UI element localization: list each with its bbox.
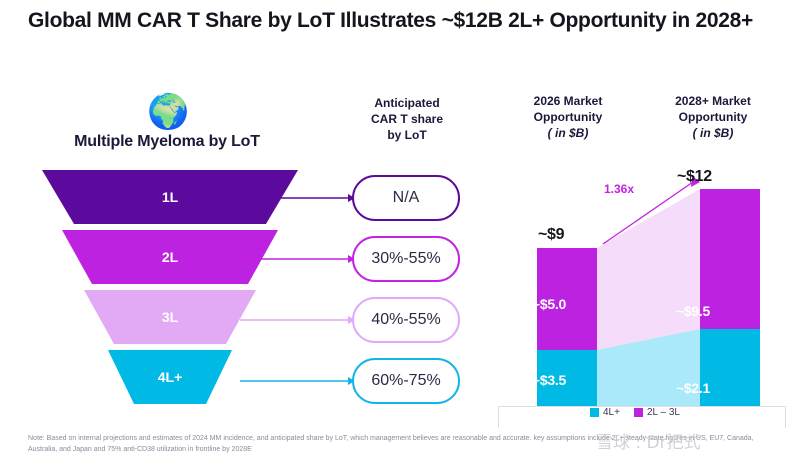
chart-header-2028-line3: ( in $B): [648, 126, 778, 142]
bar-2028-4lplus-label: ~$2.1: [676, 380, 710, 396]
legend-swatch-4lplus: [590, 408, 599, 417]
share-pill-3l-value: 40%-55%: [371, 311, 440, 329]
legend-label-4lplus: 4L+: [603, 407, 620, 418]
chart-header-2026-line3: ( in $B): [508, 126, 628, 142]
globe-icon: 🌍: [147, 92, 187, 132]
chart-header-2028-line2: Opportunity: [648, 110, 778, 126]
chart-header-2026-line2: Opportunity: [508, 110, 628, 126]
legend-swatch-2l3l: [634, 408, 643, 417]
funnel-band-3l-label: 3L: [162, 309, 179, 325]
watermark: 雪球 : Dr把式: [596, 428, 701, 453]
share-pill-1l-value: N/A: [393, 189, 420, 207]
chart-legend: 4L+ 2L – 3L: [590, 407, 680, 418]
chart-header-2028: 2028+ Market Opportunity ( in $B): [648, 94, 778, 141]
page-title: Global MM CAR T Share by LoT Illustrates…: [28, 8, 768, 35]
share-column-header: Anticipated CAR T share by LoT: [348, 96, 466, 143]
share-pill-2l[interactable]: 30%-55%: [352, 236, 460, 282]
legend-label-2l3l: 2L – 3L: [647, 407, 680, 418]
legend-item-4lplus[interactable]: 4L+: [590, 407, 620, 418]
funnel-pill-connectors: [240, 168, 360, 408]
chart-header-2028-line1: 2028+ Market: [648, 94, 778, 110]
legend-item-2l3l[interactable]: 2L – 3L: [634, 407, 680, 418]
bar-2028-2l3l-label: ~$9.5: [676, 303, 710, 319]
bar-2026-4lplus-label: ~$3.5: [532, 372, 566, 388]
share-header-line3: by LoT: [348, 128, 466, 144]
share-pill-1l[interactable]: N/A: [352, 175, 460, 221]
share-header-line2: CAR T share: [348, 112, 466, 128]
funnel-band-1l-label: 1L: [162, 189, 179, 205]
chart-header-2026-line1: 2026 Market: [508, 94, 628, 110]
share-pill-2l-value: 30%-55%: [371, 250, 440, 268]
share-pill-4lplus-value: 60%-75%: [371, 372, 440, 390]
funnel-band-4lplus-label: 4L+: [158, 369, 183, 385]
bar-2026-2l3l-label: ~$5.0: [532, 296, 566, 312]
total-2026-label: ~$9: [538, 226, 564, 244]
funnel-heading: Multiple Myeloma by LoT: [34, 133, 300, 151]
growth-multiplier-label: 1.36x: [604, 182, 634, 196]
share-header-line1: Anticipated: [348, 96, 466, 112]
total-2028-label: ~$12: [677, 168, 712, 186]
chart-header-2026: 2026 Market Opportunity ( in $B): [508, 94, 628, 141]
funnel-band-2l-label: 2L: [162, 249, 179, 265]
slide: Global MM CAR T Share by LoT Illustrates…: [0, 0, 800, 467]
share-pill-4lplus[interactable]: 60%-75%: [352, 358, 460, 404]
share-pill-3l[interactable]: 40%-55%: [352, 297, 460, 343]
